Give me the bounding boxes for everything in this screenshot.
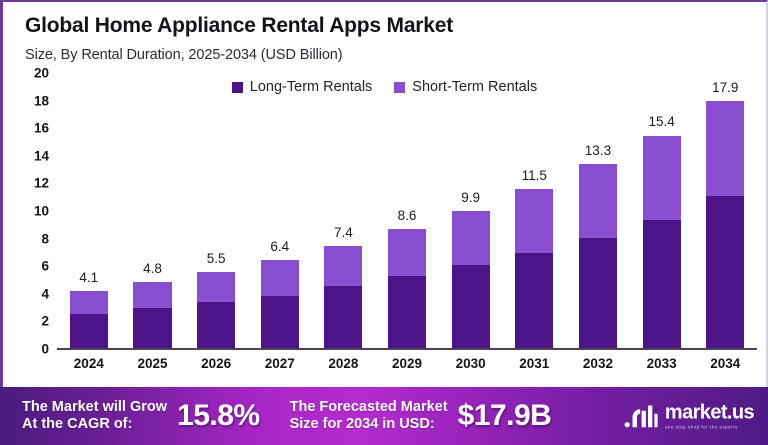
bar-segment-short-term-2033[interactable] xyxy=(643,136,681,220)
bar-segment-long-term-2026[interactable] xyxy=(197,302,235,348)
chart-subtitle: Size, By Rental Duration, 2025-2034 (USD… xyxy=(25,47,766,63)
bar-slot-2026[interactable]: 5.5 xyxy=(184,72,248,348)
bar-segment-short-term-2034[interactable] xyxy=(706,101,744,196)
bar-stack-2031[interactable] xyxy=(515,189,553,348)
bar-stack-2028[interactable] xyxy=(324,246,362,348)
bar-value-label-2031: 11.5 xyxy=(502,168,566,183)
bar-slot-2034[interactable]: 17.9 xyxy=(693,72,757,348)
bar-segment-long-term-2028[interactable] xyxy=(324,286,362,348)
bar-stack-2025[interactable] xyxy=(133,282,171,348)
x-axis-tick-2024: 2024 xyxy=(57,356,121,371)
y-axis-tick-12: 12 xyxy=(3,176,49,191)
legend-swatch-icon xyxy=(394,82,405,93)
bar-segment-long-term-2029[interactable] xyxy=(388,276,426,348)
bar-segment-short-term-2031[interactable] xyxy=(515,189,553,252)
y-axis-tick-10: 10 xyxy=(3,204,49,219)
bar-segment-long-term-2030[interactable] xyxy=(452,265,490,348)
y-axis-tick-6: 6 xyxy=(3,259,49,274)
bar-slot-2025[interactable]: 4.8 xyxy=(121,72,185,348)
bar-slot-2031[interactable]: 11.5 xyxy=(502,72,566,348)
bar-segment-short-term-2028[interactable] xyxy=(324,246,362,286)
bar-value-label-2030: 9.9 xyxy=(439,190,503,205)
bar-group: 4.14.85.56.47.48.69.911.513.315.417.9 xyxy=(57,72,757,348)
cagr-caption-line2: At the CAGR of: xyxy=(22,416,167,433)
y-axis-tick-2: 2 xyxy=(3,314,49,329)
bar-stack-2033[interactable] xyxy=(643,135,681,348)
bar-segment-short-term-2032[interactable] xyxy=(579,164,617,237)
logo-tagline: one stop shop for the experts xyxy=(665,425,754,429)
forecast-caption: The Forecasted Market Size for 2034 in U… xyxy=(290,399,448,433)
x-axis: 2024202520262027202820292030203120322033… xyxy=(57,356,757,371)
cagr-caption-line1: The Market will Grow xyxy=(22,399,167,416)
bar-segment-short-term-2029[interactable] xyxy=(388,229,426,276)
x-axis-tick-2030: 2030 xyxy=(439,356,503,371)
bar-segment-short-term-2026[interactable] xyxy=(197,272,235,302)
bar-stack-2030[interactable] xyxy=(452,211,490,348)
legend-item-1[interactable]: Long-Term Rentals xyxy=(232,79,373,95)
cagr-caption: The Market will Grow At the CAGR of: xyxy=(22,399,167,433)
x-axis-tick-2028: 2028 xyxy=(312,356,376,371)
bar-stack-2027[interactable] xyxy=(261,260,299,348)
y-axis-tick-16: 16 xyxy=(3,121,49,136)
cagr-block: The Market will Grow At the CAGR of: 15.… xyxy=(22,399,260,433)
bar-slot-2033[interactable]: 15.4 xyxy=(630,72,694,348)
market-us-logo-mark-icon xyxy=(624,404,658,428)
bar-value-label-2029: 8.6 xyxy=(375,208,439,223)
legend-label: Long-Term Rentals xyxy=(250,79,373,95)
bar-slot-2024[interactable]: 4.1 xyxy=(57,72,121,348)
bar-value-label-2032: 13.3 xyxy=(566,143,630,158)
page-title: Global Home Appliance Rental Apps Market xyxy=(25,14,766,37)
bar-segment-long-term-2034[interactable] xyxy=(706,196,744,348)
y-axis: 20181614121086420 xyxy=(3,72,49,350)
chart-infographic: Global Home Appliance Rental Apps Market… xyxy=(0,0,768,445)
bar-segment-long-term-2027[interactable] xyxy=(261,296,299,348)
cagr-value: 15.8% xyxy=(177,399,260,433)
bar-stack-2034[interactable] xyxy=(706,101,744,348)
y-axis-tick-0: 0 xyxy=(3,342,49,357)
forecast-value: $17.9B xyxy=(458,399,552,433)
bar-segment-long-term-2024[interactable] xyxy=(70,314,108,349)
bar-slot-2027[interactable]: 6.4 xyxy=(248,72,312,348)
x-axis-tick-2029: 2029 xyxy=(375,356,439,371)
bar-stack-2024[interactable] xyxy=(70,291,108,348)
bar-stack-2032[interactable] xyxy=(579,164,617,348)
y-axis-tick-14: 14 xyxy=(3,148,49,163)
bar-segment-short-term-2027[interactable] xyxy=(261,260,299,296)
bar-value-label-2024: 4.1 xyxy=(57,270,121,285)
bar-segment-long-term-2025[interactable] xyxy=(133,308,171,348)
logo-text: market.us one stop shop for the experts xyxy=(665,402,754,429)
y-axis-tick-8: 8 xyxy=(3,231,49,246)
plot-region: 20181614121086420 4.14.85.56.47.48.69.91… xyxy=(3,72,768,362)
x-axis-tick-2032: 2032 xyxy=(566,356,630,371)
footer-banner: The Market will Grow At the CAGR of: 15.… xyxy=(0,387,768,445)
bar-segment-short-term-2030[interactable] xyxy=(452,211,490,265)
bar-value-label-2033: 15.4 xyxy=(630,114,694,129)
y-axis-tick-18: 18 xyxy=(3,93,49,108)
legend-swatch-icon xyxy=(232,82,243,93)
forecast-caption-line2: Size for 2034 in USD: xyxy=(290,416,448,433)
bar-stack-2026[interactable] xyxy=(197,272,235,348)
logo-wordmark: market.us xyxy=(665,402,754,422)
forecast-caption-line1: The Forecasted Market xyxy=(290,399,448,416)
x-axis-tick-2027: 2027 xyxy=(248,356,312,371)
bar-slot-2029[interactable]: 8.6 xyxy=(375,72,439,348)
bar-segment-long-term-2033[interactable] xyxy=(643,220,681,348)
bar-slot-2030[interactable]: 9.9 xyxy=(439,72,503,348)
bar-slot-2028[interactable]: 7.4 xyxy=(312,72,376,348)
bar-value-label-2028: 7.4 xyxy=(312,225,376,240)
x-axis-tick-2026: 2026 xyxy=(184,356,248,371)
y-axis-tick-4: 4 xyxy=(3,286,49,301)
bar-segment-long-term-2032[interactable] xyxy=(579,238,617,348)
chart-legend: Long-Term RentalsShort-Term Rentals xyxy=(3,79,766,95)
x-axis-tick-2034: 2034 xyxy=(693,356,757,371)
bar-slot-2032[interactable]: 13.3 xyxy=(566,72,630,348)
x-axis-tick-2025: 2025 xyxy=(121,356,185,371)
forecast-block: The Forecasted Market Size for 2034 in U… xyxy=(290,399,552,433)
bar-value-label-2025: 4.8 xyxy=(121,261,185,276)
plot-area: 4.14.85.56.47.48.69.911.513.315.417.9 xyxy=(57,72,757,350)
market-us-logo[interactable]: market.us one stop shop for the experts xyxy=(624,402,754,429)
legend-label: Short-Term Rentals xyxy=(412,79,537,95)
x-axis-tick-2031: 2031 xyxy=(502,356,566,371)
bar-segment-short-term-2024[interactable] xyxy=(70,291,108,313)
bar-value-label-2027: 6.4 xyxy=(248,239,312,254)
x-axis-baseline xyxy=(57,348,757,350)
bar-segment-short-term-2025[interactable] xyxy=(133,282,171,308)
x-axis-tick-2033: 2033 xyxy=(630,356,694,371)
bar-segment-long-term-2031[interactable] xyxy=(515,253,553,348)
chart-header: Global Home Appliance Rental Apps Market… xyxy=(3,2,766,63)
bar-value-label-2026: 5.5 xyxy=(184,251,248,266)
legend-item-2[interactable]: Short-Term Rentals xyxy=(394,79,537,95)
bar-stack-2029[interactable] xyxy=(388,229,426,348)
